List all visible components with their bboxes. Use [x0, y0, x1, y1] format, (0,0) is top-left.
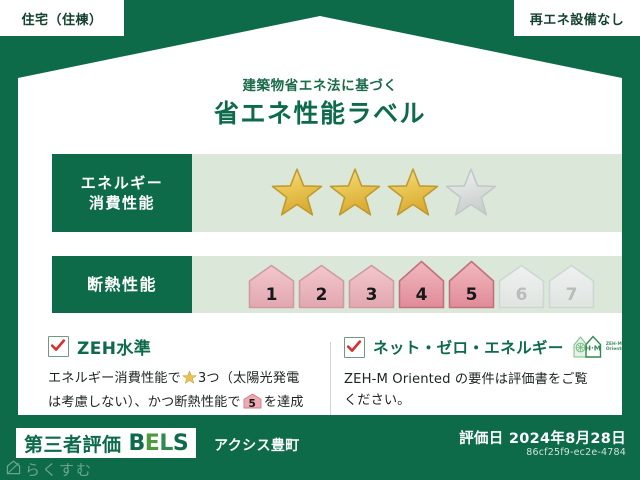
- insulation-grade-7: 7: [548, 264, 595, 309]
- evaluation-id: 86cf25f9-ec2e-4784: [526, 447, 626, 458]
- check-icon: [344, 337, 365, 358]
- zeh-m-oriented-logo-caption: ZEH-M Oriented: [606, 342, 628, 353]
- net-zero-energy-block: ネット・ゼロ・エネルギー H·M ZEH-M Oriented: [344, 334, 634, 412]
- energy-performance-label-line2: 消費性能: [89, 193, 155, 213]
- insulation-grade-number: 3: [348, 287, 395, 304]
- energy-performance-label-line1: エネルギー: [81, 173, 164, 193]
- insulation-grade-number: 7: [548, 287, 595, 304]
- insulation-grade-number: 4: [398, 287, 445, 304]
- net-zero-body-line1: ZEH-M Oriented の要件は評価書をご覧: [344, 372, 588, 387]
- bels-letter-l: L: [159, 431, 173, 456]
- renewable-energy-tag-label: 再エネ設備なし: [530, 9, 625, 28]
- insulation-performance-row: 断熱性能 1234567: [52, 256, 624, 313]
- zeh-standard-title: ZEH水準: [77, 334, 151, 359]
- page-title: 省エネ性能ラベル: [18, 94, 622, 130]
- insulation-grade-scale: 1234567: [192, 260, 595, 309]
- zeh-m-oriented-logo-icon: H·M ZEH-M Oriented: [572, 334, 628, 360]
- insulation-performance-label-line1: 断熱性能: [87, 274, 157, 296]
- zeh-body-part2: 3つ（太陽光発電: [198, 371, 300, 386]
- star-icon: [182, 370, 197, 392]
- insulation-grade-2: 2: [298, 264, 345, 309]
- star-icon-filled: [386, 166, 440, 220]
- insulation-grade-1: 1: [248, 264, 295, 309]
- energy-performance-panel: [192, 154, 624, 232]
- house-watermark-icon: [6, 460, 21, 479]
- evaluation-date: 評価日 2024年8月28日: [459, 427, 626, 448]
- building-type-tag: 住宅（住棟）: [0, 0, 124, 36]
- svg-text:H·M: H·M: [585, 343, 601, 352]
- energy-performance-row: エネルギー 消費性能: [52, 154, 624, 232]
- label-subtitle: 建築物省エネ法に基づく: [18, 74, 622, 94]
- insulation-grade-badge-icon: 5: [243, 393, 262, 409]
- insulation-performance-label-box: 断熱性能: [52, 256, 192, 313]
- zeh-blocks-divider: [330, 342, 331, 416]
- insulation-grade-4: 4: [398, 260, 445, 309]
- net-zero-energy-title: ネット・ゼロ・エネルギー: [373, 336, 564, 358]
- zeh-body-part1: エネルギー消費性能で: [48, 371, 181, 386]
- insulation-grade-6: 6: [498, 264, 545, 309]
- insulation-grade-badge-value: 5: [243, 399, 262, 410]
- star-icon-filled: [270, 166, 324, 220]
- builder-name: アクシス豊町: [214, 435, 300, 455]
- bels-letter-e: E: [145, 431, 160, 456]
- check-icon: [48, 336, 69, 357]
- net-zero-body-line2: ください。: [344, 393, 410, 408]
- insulation-grade-3: 3: [348, 264, 395, 309]
- bels-wordmark: BELS: [129, 431, 189, 456]
- star-icon-empty: [444, 166, 498, 220]
- star-rating: [192, 166, 498, 220]
- energy-performance-label-box: エネルギー 消費性能: [52, 154, 192, 232]
- renewable-energy-tag: 再エネ設備なし: [514, 0, 640, 36]
- net-zero-energy-header: ネット・ゼロ・エネルギー H·M ZEH-M Oriented: [344, 334, 634, 360]
- building-type-tag-label: 住宅（住棟）: [21, 9, 102, 28]
- logo-caption-line2: Oriented: [606, 347, 628, 352]
- zeh-standard-block: ZEH水準 エネルギー消費性能で3つ（太陽光発電は考慮しない）、かつ断熱性能で5…: [48, 334, 320, 414]
- insulation-performance-panel: 1234567: [192, 256, 624, 313]
- insulation-grade-number: 5: [448, 287, 495, 304]
- energy-performance-label: 住宅（住棟） 再エネ設備なし 建築物省エネ法に基づく 省エネ性能ラベル エネルギ…: [0, 0, 640, 477]
- logo-caption-line1: ZEH-M: [606, 342, 622, 347]
- label-footer: 第三者評価 BELS アクシス豊町 評価日 2024年8月28日 86cf25f…: [0, 415, 640, 477]
- bels-jp-label: 第三者評価: [24, 430, 122, 457]
- insulation-grade-number: 6: [498, 287, 545, 304]
- insulation-grade-number: 1: [248, 287, 295, 304]
- bels-badge: 第三者評価 BELS: [16, 428, 196, 458]
- net-zero-energy-body: ZEH-M Oriented の要件は評価書をご覧 ください。: [344, 369, 634, 412]
- zeh-body-part3: は考慮しない）、かつ断熱性能で: [48, 395, 241, 410]
- insulation-grade-number: 2: [298, 287, 345, 304]
- zeh-body-part4: を達成: [264, 395, 304, 410]
- label-card: 建築物省エネ法に基づく 省エネ性能ラベル エネルギー 消費性能 断熱性能 123…: [18, 16, 622, 415]
- insulation-grade-5: 5: [448, 260, 495, 309]
- zeh-standard-body: エネルギー消費性能で3つ（太陽光発電は考慮しない）、かつ断熱性能で5を達成: [48, 368, 320, 414]
- star-icon-filled: [328, 166, 382, 220]
- bels-letter-b: B: [129, 431, 145, 456]
- bels-letter-s: S: [173, 431, 188, 456]
- zeh-standard-header: ZEH水準: [48, 334, 320, 359]
